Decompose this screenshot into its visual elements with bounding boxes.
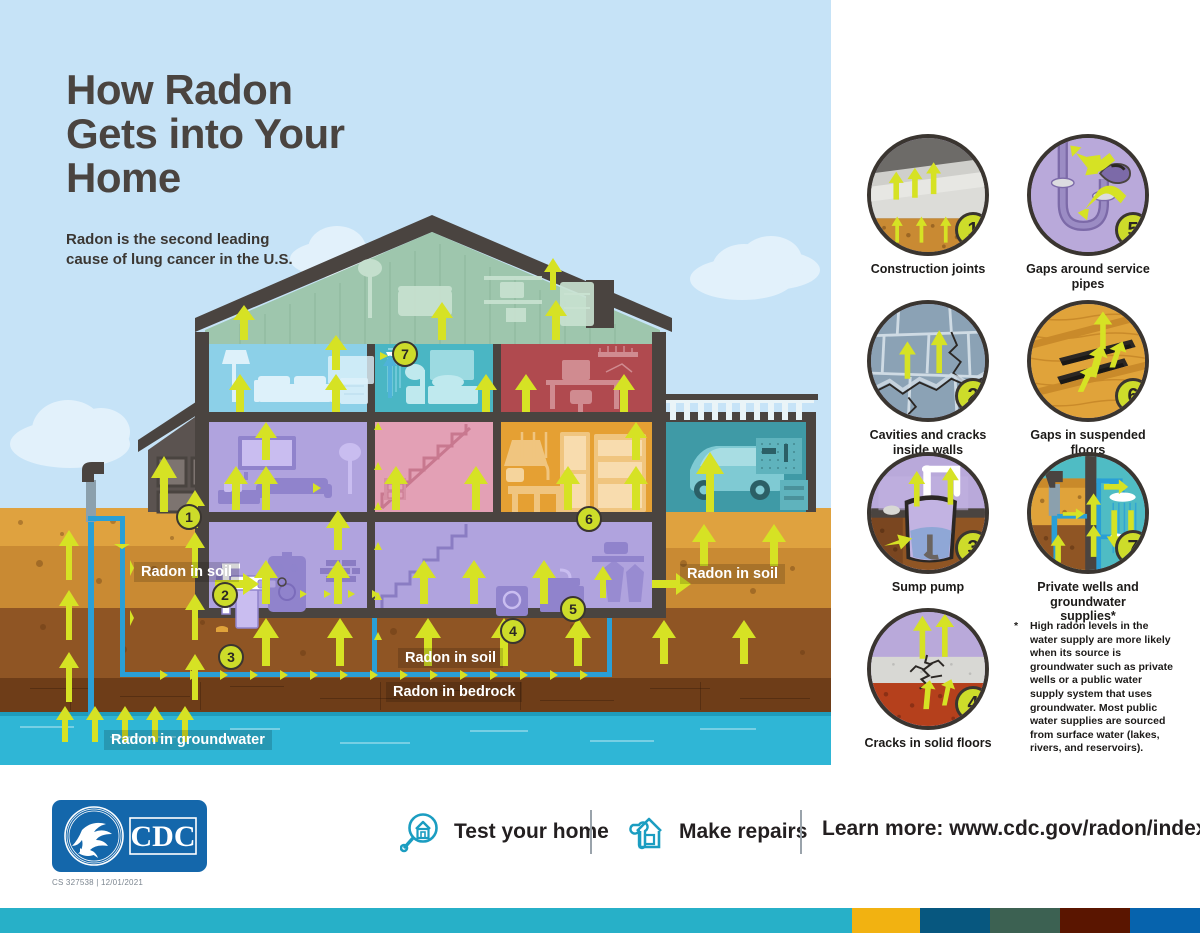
- callout-7-image: 7: [1027, 452, 1149, 574]
- label-radon-in-soil-left: Radon in soil: [134, 562, 239, 582]
- wrench-house-icon: [625, 811, 667, 853]
- footer-link-test-your-home[interactable]: Test your home: [400, 811, 609, 853]
- callout-5-badge: 5: [1115, 212, 1149, 248]
- callout-private-wells[interactable]: 7 Private wells and groundwater supplies…: [1022, 452, 1154, 624]
- color-bar-maroon: [1060, 908, 1130, 933]
- footnote-asterisk: *: [1014, 620, 1018, 634]
- callout-7-badge: 7: [1115, 530, 1149, 566]
- color-bar-blue: [1130, 908, 1200, 933]
- callout-cavities-cracks[interactable]: 2 Cavities and cracks inside walls: [862, 300, 994, 457]
- callout-6-image: 6: [1027, 300, 1149, 422]
- callout-gaps-service-pipes[interactable]: 5 Gaps around service pipes: [1022, 134, 1154, 291]
- magnifier-house-icon: [400, 811, 442, 853]
- infographic-page: Radon in soil Radon in soil Radon in bed…: [0, 0, 1200, 933]
- cdc-logo-mark: CDC: [52, 800, 207, 872]
- page-subtitle: Radon is the second leading cause of lun…: [66, 230, 316, 270]
- callout-1-caption: Construction joints: [862, 262, 994, 277]
- cdc-logo-text: CDC: [131, 820, 196, 853]
- illustration-marker-6[interactable]: 6: [576, 506, 602, 532]
- callout-1-badge: 1: [955, 212, 989, 248]
- color-bar-teal: [0, 908, 852, 933]
- illustration-marker-7[interactable]: 7: [392, 341, 418, 367]
- color-bar-gold: [852, 908, 920, 933]
- callout-7-caption: Private wells and groundwater supplies*: [1022, 580, 1154, 624]
- footer-learn-more[interactable]: Learn more: www.cdc.gov/radon/index.html: [822, 817, 1200, 841]
- callout-3-caption: Sump pump: [862, 580, 994, 595]
- label-radon-in-bedrock: Radon in bedrock: [386, 682, 522, 702]
- callout-3-badge: 3: [955, 530, 989, 566]
- callout-4-caption: Cracks in solid floors: [862, 736, 994, 751]
- page-title-line-2: Gets into Your: [66, 112, 396, 156]
- illustration-marker-3[interactable]: 3: [218, 644, 244, 670]
- footer-divider-1: [590, 810, 592, 854]
- label-radon-in-soil-center: Radon in soil: [398, 648, 503, 668]
- footnote-text: High radon levels in the water supply ar…: [1030, 620, 1174, 756]
- callout-2-image: 2: [867, 300, 989, 422]
- illustration-marker-2[interactable]: 2: [212, 582, 238, 608]
- callout-4-image: 4: [867, 608, 989, 730]
- cdc-logo[interactable]: CDC: [52, 800, 207, 872]
- color-bar-navy: [920, 908, 990, 933]
- page-title-line-1: How Radon: [66, 68, 396, 112]
- footer-link-test-your-home-label: Test your home: [454, 820, 609, 844]
- callout-3-image: 3: [867, 452, 989, 574]
- callout-6-badge: 6: [1115, 378, 1149, 414]
- illustration-marker-1[interactable]: 1: [176, 504, 202, 530]
- callout-5-caption: Gaps around service pipes: [1022, 262, 1154, 291]
- callout-5-image: 5: [1027, 134, 1149, 256]
- callout-gaps-suspended-floors[interactable]: 6 Gaps in suspended floors: [1022, 300, 1154, 457]
- color-bar-green: [990, 908, 1060, 933]
- label-radon-in-soil-right: Radon in soil: [680, 564, 785, 584]
- footer-link-make-repairs[interactable]: Make repairs: [625, 811, 807, 853]
- footnote: * High radon levels in the water supply …: [1014, 620, 1174, 756]
- callout-2-badge: 2: [955, 378, 989, 414]
- footer-divider-2: [800, 810, 802, 854]
- footer-link-make-repairs-label: Make repairs: [679, 820, 807, 844]
- callout-sump-pump[interactable]: 3 Sump pump: [862, 452, 994, 595]
- publication-code: CS 327538 | 12/01/2021: [52, 878, 143, 887]
- callout-1-image: 1: [867, 134, 989, 256]
- callout-4-badge: 4: [955, 686, 989, 722]
- illustration-marker-4[interactable]: 4: [500, 618, 526, 644]
- page-title: How Radon Gets into Your Home: [66, 68, 396, 200]
- illustration-marker-5[interactable]: 5: [560, 596, 586, 622]
- callout-construction-joints[interactable]: 1 Construction joints: [862, 134, 994, 277]
- label-radon-in-groundwater: Radon in groundwater: [104, 730, 272, 750]
- callout-cracks-solid-floors[interactable]: 4 Cracks in solid floors: [862, 608, 994, 751]
- footer-learn-more-label: Learn more: www.cdc.gov/radon/index.html: [822, 817, 1200, 841]
- page-title-line-3: Home: [66, 156, 396, 200]
- brand-color-bar: [0, 908, 1200, 933]
